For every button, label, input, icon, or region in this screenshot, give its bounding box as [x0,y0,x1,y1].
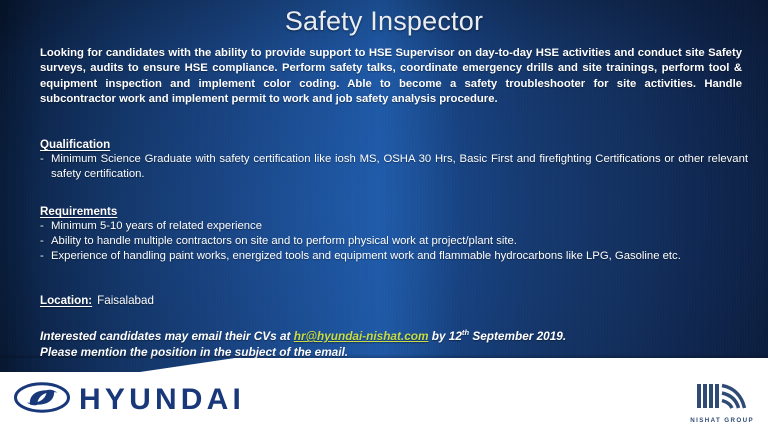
hyundai-logo: HYUNDAI [14,382,245,418]
nishat-wordmark: NISHAT GROUP [690,417,754,424]
location-value: Faisalabad [97,294,154,307]
footer-edge-shadow [0,354,768,358]
closing-text-after-email: by 12 [428,329,461,343]
bullet-marker: - [40,234,51,249]
location-label: Location: [40,294,92,307]
qualification-item-text: Minimum Science Graduate with safety cer… [51,152,748,182]
closing-date-text: September 2019. [469,329,566,343]
qualification-item: - Minimum Science Graduate with safety c… [40,152,748,182]
closing-line-1: Interested candidates may email their CV… [40,325,566,344]
bullet-marker: - [40,152,51,182]
location-line: Location:Faisalabad [40,294,154,307]
requirements-section: Requirements - Minimum 5-10 years of rel… [40,205,742,265]
requirements-item-text: Minimum 5-10 years of related experience [51,219,742,234]
qualification-heading: Qualification [40,138,748,151]
requirements-heading: Requirements [40,205,742,218]
qualification-section: Qualification - Minimum Science Graduate… [40,138,748,182]
requirements-item: - Minimum 5-10 years of related experien… [40,219,742,234]
requirements-item: - Ability to handle multiple contractors… [40,234,742,249]
bullet-marker: - [40,219,51,234]
intro-paragraph: Looking for candidates with the ability … [40,46,742,107]
nishat-bars-emblem [696,398,748,415]
nishat-group-logo: NISHAT GROUP [690,381,754,424]
closing-text-before-email: Interested candidates may email their CV… [40,329,294,343]
requirements-item-text: Experience of handling paint works, ener… [51,249,742,264]
bullet-marker: - [40,249,51,264]
email-link[interactable]: hr@hyundai-nishat.com [294,329,429,343]
job-poster: Safety Inspector Looking for candidates … [0,0,768,432]
hyundai-wordmark: HYUNDAI [79,385,245,415]
requirements-item-text: Ability to handle multiple contractors o… [51,234,742,249]
requirements-item: - Experience of handling paint works, en… [40,249,742,264]
page-title: Safety Inspector [0,6,768,37]
hyundai-h-emblem [14,382,70,418]
